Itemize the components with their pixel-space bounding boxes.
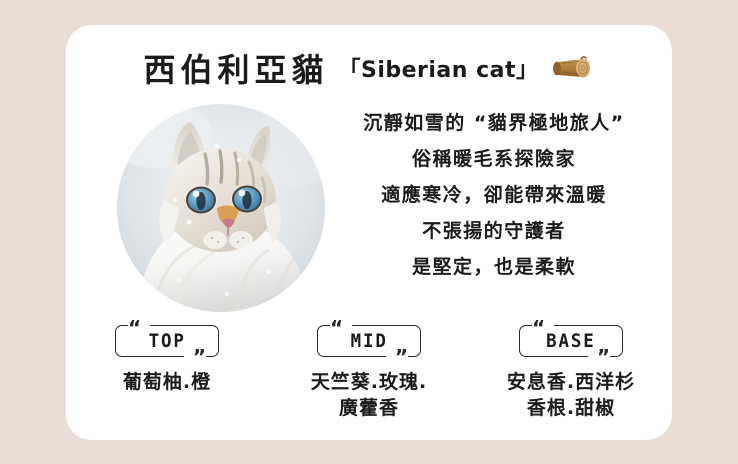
quote-open-icon: “ xyxy=(128,318,141,338)
note-text-line: 天竺葵.玫瑰. xyxy=(311,369,427,395)
note-column-mid: “ ” MID 天竺葵.玫瑰. 廣藿香 xyxy=(268,325,470,421)
note-text-top: 葡萄柚.橙 xyxy=(123,369,211,395)
description-line: 是堅定，也是柔軟 xyxy=(316,249,672,285)
note-text-line: 香根.甜椒 xyxy=(507,395,635,421)
note-text-base: 安息香.西洋杉 香根.甜椒 xyxy=(507,369,635,421)
note-text-line: 安息香.西洋杉 xyxy=(507,369,635,395)
note-text-mid: 天竺葵.玫瑰. 廣藿香 xyxy=(311,369,427,421)
note-column-top: “ ” TOP 葡萄柚.橙 xyxy=(66,325,268,421)
note-badge-top: “ ” TOP xyxy=(115,325,219,357)
page-title-en: 「Siberian cat」 xyxy=(338,52,538,84)
description-line: 沉靜如雪的 “貓界極地旅人” xyxy=(316,105,672,141)
description-line: 適應寒冷，卻能帶來溫暖 xyxy=(316,177,672,213)
siberian-cat-photo xyxy=(117,104,325,312)
note-label-top: TOP xyxy=(148,330,185,352)
note-column-base: “ ” BASE 安息香.西洋杉 香根.甜椒 xyxy=(470,325,672,421)
note-text-line: 廣藿香 xyxy=(311,395,427,421)
title-row: 西伯利亞貓 「Siberian cat」 xyxy=(66,39,672,97)
quote-close-icon: ” xyxy=(597,347,610,367)
page-title-cn: 西伯利亞貓 xyxy=(143,45,328,91)
note-label-base: BASE xyxy=(546,330,595,352)
description-line: 俗稱暖毛系探險家 xyxy=(316,141,672,177)
product-card: 西伯利亞貓 「Siberian cat」 xyxy=(66,25,672,440)
wood-log-icon xyxy=(551,54,595,82)
quote-open-icon: “ xyxy=(330,318,343,338)
quote-close-icon: ” xyxy=(395,347,408,367)
note-badge-mid: “ ” MID xyxy=(317,325,421,357)
quote-open-icon: “ xyxy=(532,318,545,338)
note-badge-base: “ ” BASE xyxy=(519,325,623,357)
quote-close-icon: ” xyxy=(193,347,206,367)
description-block: 沉靜如雪的 “貓界極地旅人” 俗稱暖毛系探險家 適應寒冷，卻能帶來溫暖 不張揚的… xyxy=(316,105,672,285)
note-text-line: 葡萄柚.橙 xyxy=(123,369,211,395)
description-line: 不張揚的守護者 xyxy=(316,213,672,249)
fragrance-notes-row: “ ” TOP 葡萄柚.橙 “ ” MID 天竺葵.玫瑰. 廣藿香 xyxy=(66,325,672,421)
note-label-mid: MID xyxy=(350,330,387,352)
